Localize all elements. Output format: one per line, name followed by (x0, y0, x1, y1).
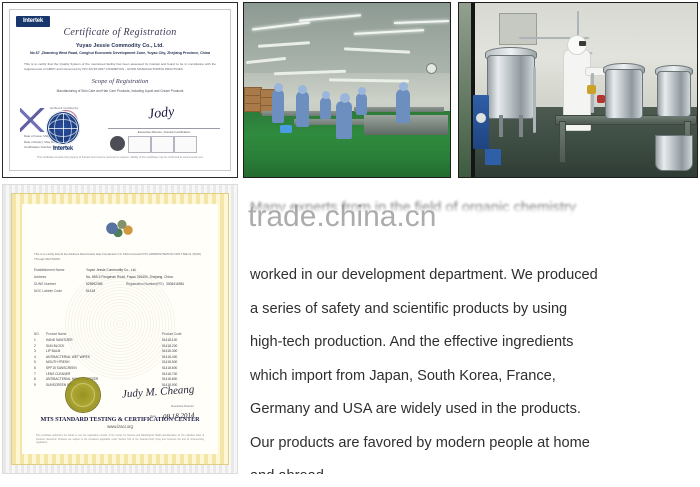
description-line: high-tech production. And the effective … (250, 326, 692, 360)
description-line: which import from Japan, South Korea, Fr… (250, 360, 692, 394)
ngc-labeler-code-value: 51418 (86, 289, 208, 293)
description-line: a series of safety and scientific produc… (250, 293, 692, 327)
mixing-tank (605, 69, 643, 119)
cell-no: 4 (34, 355, 46, 359)
table-body: 1HAND SANITIZER51418-1002SUN BLOCK51418-… (34, 338, 208, 387)
worker-head (358, 87, 366, 95)
tank-leg (519, 115, 523, 137)
worker-figure (396, 89, 410, 123)
side-panel (459, 3, 471, 178)
company-description-block: Many experts from in the field of organi… (248, 184, 696, 474)
accreditation-mark-1-icon (128, 136, 151, 153)
cell-product-code: 51418-500 (162, 360, 208, 364)
intertek-signature-area: Jody Executive Director, Intertek Certif… (108, 106, 220, 160)
bench-leg (559, 121, 566, 163)
worker-head (340, 93, 350, 103)
bottom-content-row: This is to certify that At the Address l… (0, 182, 700, 487)
intertek-scope-body: Manufacturing of Skin Care and Hair Care… (32, 89, 208, 95)
intertek-fineprint: This certificate remains the property of… (18, 156, 222, 160)
description-line: Many experts from in the field of organi… (250, 192, 692, 226)
mixing-tank-photo[interactable] (458, 2, 698, 178)
description-line: worked in our development department. We… (250, 259, 692, 293)
column-header-no: NO. (34, 332, 46, 336)
cell-product-name: ANTIBACTERIAL HAND SANITIZER (46, 377, 162, 381)
fda-lead-text: This is to certify that At the Address l… (34, 252, 206, 261)
cell-product-name: MOUTH FRESH (46, 360, 162, 364)
product-description-page: Intertek Certificate of Registration Yuy… (0, 0, 700, 487)
worker-head (322, 91, 330, 99)
description-paragraph: Many experts from in the field of organi… (250, 192, 692, 474)
cell-no: 7 (34, 372, 46, 376)
cell-product-name: SPF15 SUNSCREEN (46, 366, 162, 370)
intertek-certified-by-label: Verified & Certified by (24, 106, 104, 110)
cell-product-name: LIP BALM (46, 349, 162, 353)
mixing-tank (657, 71, 691, 117)
blue-starburst-stamp-icon (20, 108, 46, 132)
wall-duct (499, 13, 537, 45)
address-value: No. 669-3 Fengshan Road, Fuyao 315400, Z… (86, 275, 208, 279)
cleanroom-scene (244, 3, 450, 177)
accreditation-mark-3-icon (174, 136, 197, 153)
cell-product-code: 51418-700 (162, 372, 208, 376)
certificate-paper: This is to certify that At the Address l… (22, 204, 218, 454)
cell-no: 9 (34, 383, 46, 387)
worker-head (298, 85, 307, 94)
worker-figure (336, 101, 352, 139)
intertek-company-address: No.67 ,Zhanxing West Road, Conghui Econo… (10, 51, 230, 55)
certification-center-name: MTS STANDARD TESTING & CERTIFICATION CEN… (32, 416, 208, 430)
blue-drum (485, 149, 501, 165)
fda-field-row: DUNS Number 529892365 Registration Numbe… (34, 282, 208, 286)
cell-no: 3 (34, 349, 46, 353)
cell-no: 5 (34, 360, 46, 364)
worker-figure (272, 89, 284, 123)
table-row: 7LENS CLEANER51418-700 (34, 372, 208, 376)
cell-product-code: 51418-800 (162, 377, 208, 381)
cell-product-code: 51418-100 (162, 338, 208, 342)
certificate-emblem-icon (100, 214, 140, 240)
cell-product-name: LENS CLEANER (46, 372, 162, 376)
lower-vessel (655, 135, 693, 171)
establishment-name-label: Establishment Name (34, 268, 86, 272)
cell-product-name: ANTIBACTERIAL WET WIPES (46, 355, 162, 359)
signature-rule (108, 128, 220, 129)
globe-meridian-3 (48, 113, 78, 143)
cell-product-code: 51418-400 (162, 355, 208, 359)
table-row: 5MOUTH FRESH51418-500 (34, 360, 208, 364)
intertek-logo-icon: Intertek (16, 16, 50, 27)
duns-number-value: 529892365 (86, 282, 126, 286)
registration-number-label: Registration Number(FEI) (126, 282, 166, 286)
intertek-scope-heading: Scope of Registration (10, 78, 230, 85)
center-name-text: MTS STANDARD TESTING & CERTIFICATION CEN… (41, 416, 200, 423)
blue-stool (280, 125, 292, 133)
intertek-signatory-title: Executive Director, Intertek Certificati… (108, 130, 220, 134)
cell-product-code: 51418-300 (162, 349, 208, 353)
tank-leg (499, 115, 503, 137)
cleanroom-production-photo[interactable] (243, 2, 451, 178)
fda-fields-block: Establishment Name Yuyao Jessie Commodit… (34, 268, 208, 296)
fda-registration-certificate-image[interactable]: This is to certify that At the Address l… (2, 184, 238, 474)
table-row: 8ANTIBACTERIAL HAND SANITIZER51418-800 (34, 377, 208, 381)
establishment-name-value: Yuyao Jessie Commodity Co., Ltd. (86, 268, 208, 272)
valve-icon (587, 85, 596, 94)
accreditation-mark-2-icon (151, 136, 174, 153)
registration-number-value: 3008416981 (166, 282, 206, 286)
worker-head (399, 82, 408, 91)
intertek-certificate-image[interactable]: Intertek Certificate of Registration Yuy… (2, 2, 238, 178)
cell-product-code: 51418-600 (162, 366, 208, 370)
table-row: 1HAND SANITIZER51418-100 (34, 338, 208, 342)
cell-product-code: 51418-200 (162, 344, 208, 348)
cell-no: 8 (34, 377, 46, 381)
gauge-icon (476, 113, 486, 123)
top-media-row: Intertek Certificate of Registration Yuy… (0, 0, 700, 180)
worker-figure (356, 93, 367, 115)
intertek-certificate-title: Certificate of Registration (10, 27, 230, 38)
table-row: 3LIP BALM51418-300 (34, 349, 208, 353)
flexible-hose-icon (533, 67, 536, 133)
description-line (250, 226, 692, 260)
ngc-labeler-code-label: NGC Labeler Code (34, 289, 86, 293)
intertek-compliance-statement: This is to certify that the Quality Syst… (24, 62, 216, 72)
fda-signatory-title: Executive Director (171, 404, 194, 408)
intertek-certificate-body: Intertek Certificate of Registration Yuy… (9, 9, 231, 171)
worker-head (274, 83, 283, 92)
technician-goggles-icon (579, 41, 586, 46)
intertek-company-name: Yuyao Jessie Commodity Co., Ltd. (10, 43, 230, 49)
intertek-globe-label: Intertek (40, 146, 86, 152)
column-header-product-code: Product Code (162, 332, 208, 336)
center-url: www.izacr.org (107, 424, 133, 429)
fda-footnote: This certificate authorizes the holder t… (36, 435, 204, 446)
description-line: and abroad. (250, 460, 692, 474)
photo-edge (471, 3, 475, 178)
product-table: NO. Product Name Product Code 1HAND SANI… (34, 332, 208, 388)
cell-product-name: HAND SANITIZER (46, 338, 162, 342)
table-row: 6SPF15 SUNSCREEN51418-600 (34, 366, 208, 370)
cell-no: 6 (34, 366, 46, 370)
intertek-embossed-seal-icon (110, 136, 125, 151)
column-header-product-name: Product Name (46, 332, 162, 336)
wall-clock-icon (426, 63, 437, 74)
cell-product-name: SUN BLOCK (46, 344, 162, 348)
red-valve-icon (597, 95, 605, 103)
cell-no: 2 (34, 344, 46, 348)
fda-field-row: NGC Labeler Code 51418 (34, 289, 208, 293)
mixing-room-scene (459, 3, 697, 177)
fda-field-row: Establishment Name Yuyao Jessie Commodit… (34, 268, 208, 272)
cell-no: 1 (34, 338, 46, 342)
intertek-globe-icon (46, 111, 80, 145)
table-row: 2SUN BLOCK51418-200 (34, 344, 208, 348)
address-label: Address (34, 275, 86, 279)
description-line: Germany and USA are widely used in the p… (250, 393, 692, 427)
intertek-signature: Jody (147, 105, 175, 124)
worker-figure (320, 97, 331, 119)
description-line: Our products are favored by modern peopl… (250, 427, 692, 461)
table-row: 4ANTIBACTERIAL WET WIPES51418-400 (34, 355, 208, 359)
mixing-tank (487, 55, 535, 119)
gold-embossed-seal-icon (66, 378, 100, 412)
duns-number-label: DUNS Number (34, 282, 86, 286)
fda-field-row: Address No. 669-3 Fengshan Road, Fuyao 3… (34, 275, 208, 279)
table-header-row: NO. Product Name Product Code (34, 332, 208, 336)
worker-figure (296, 91, 309, 127)
